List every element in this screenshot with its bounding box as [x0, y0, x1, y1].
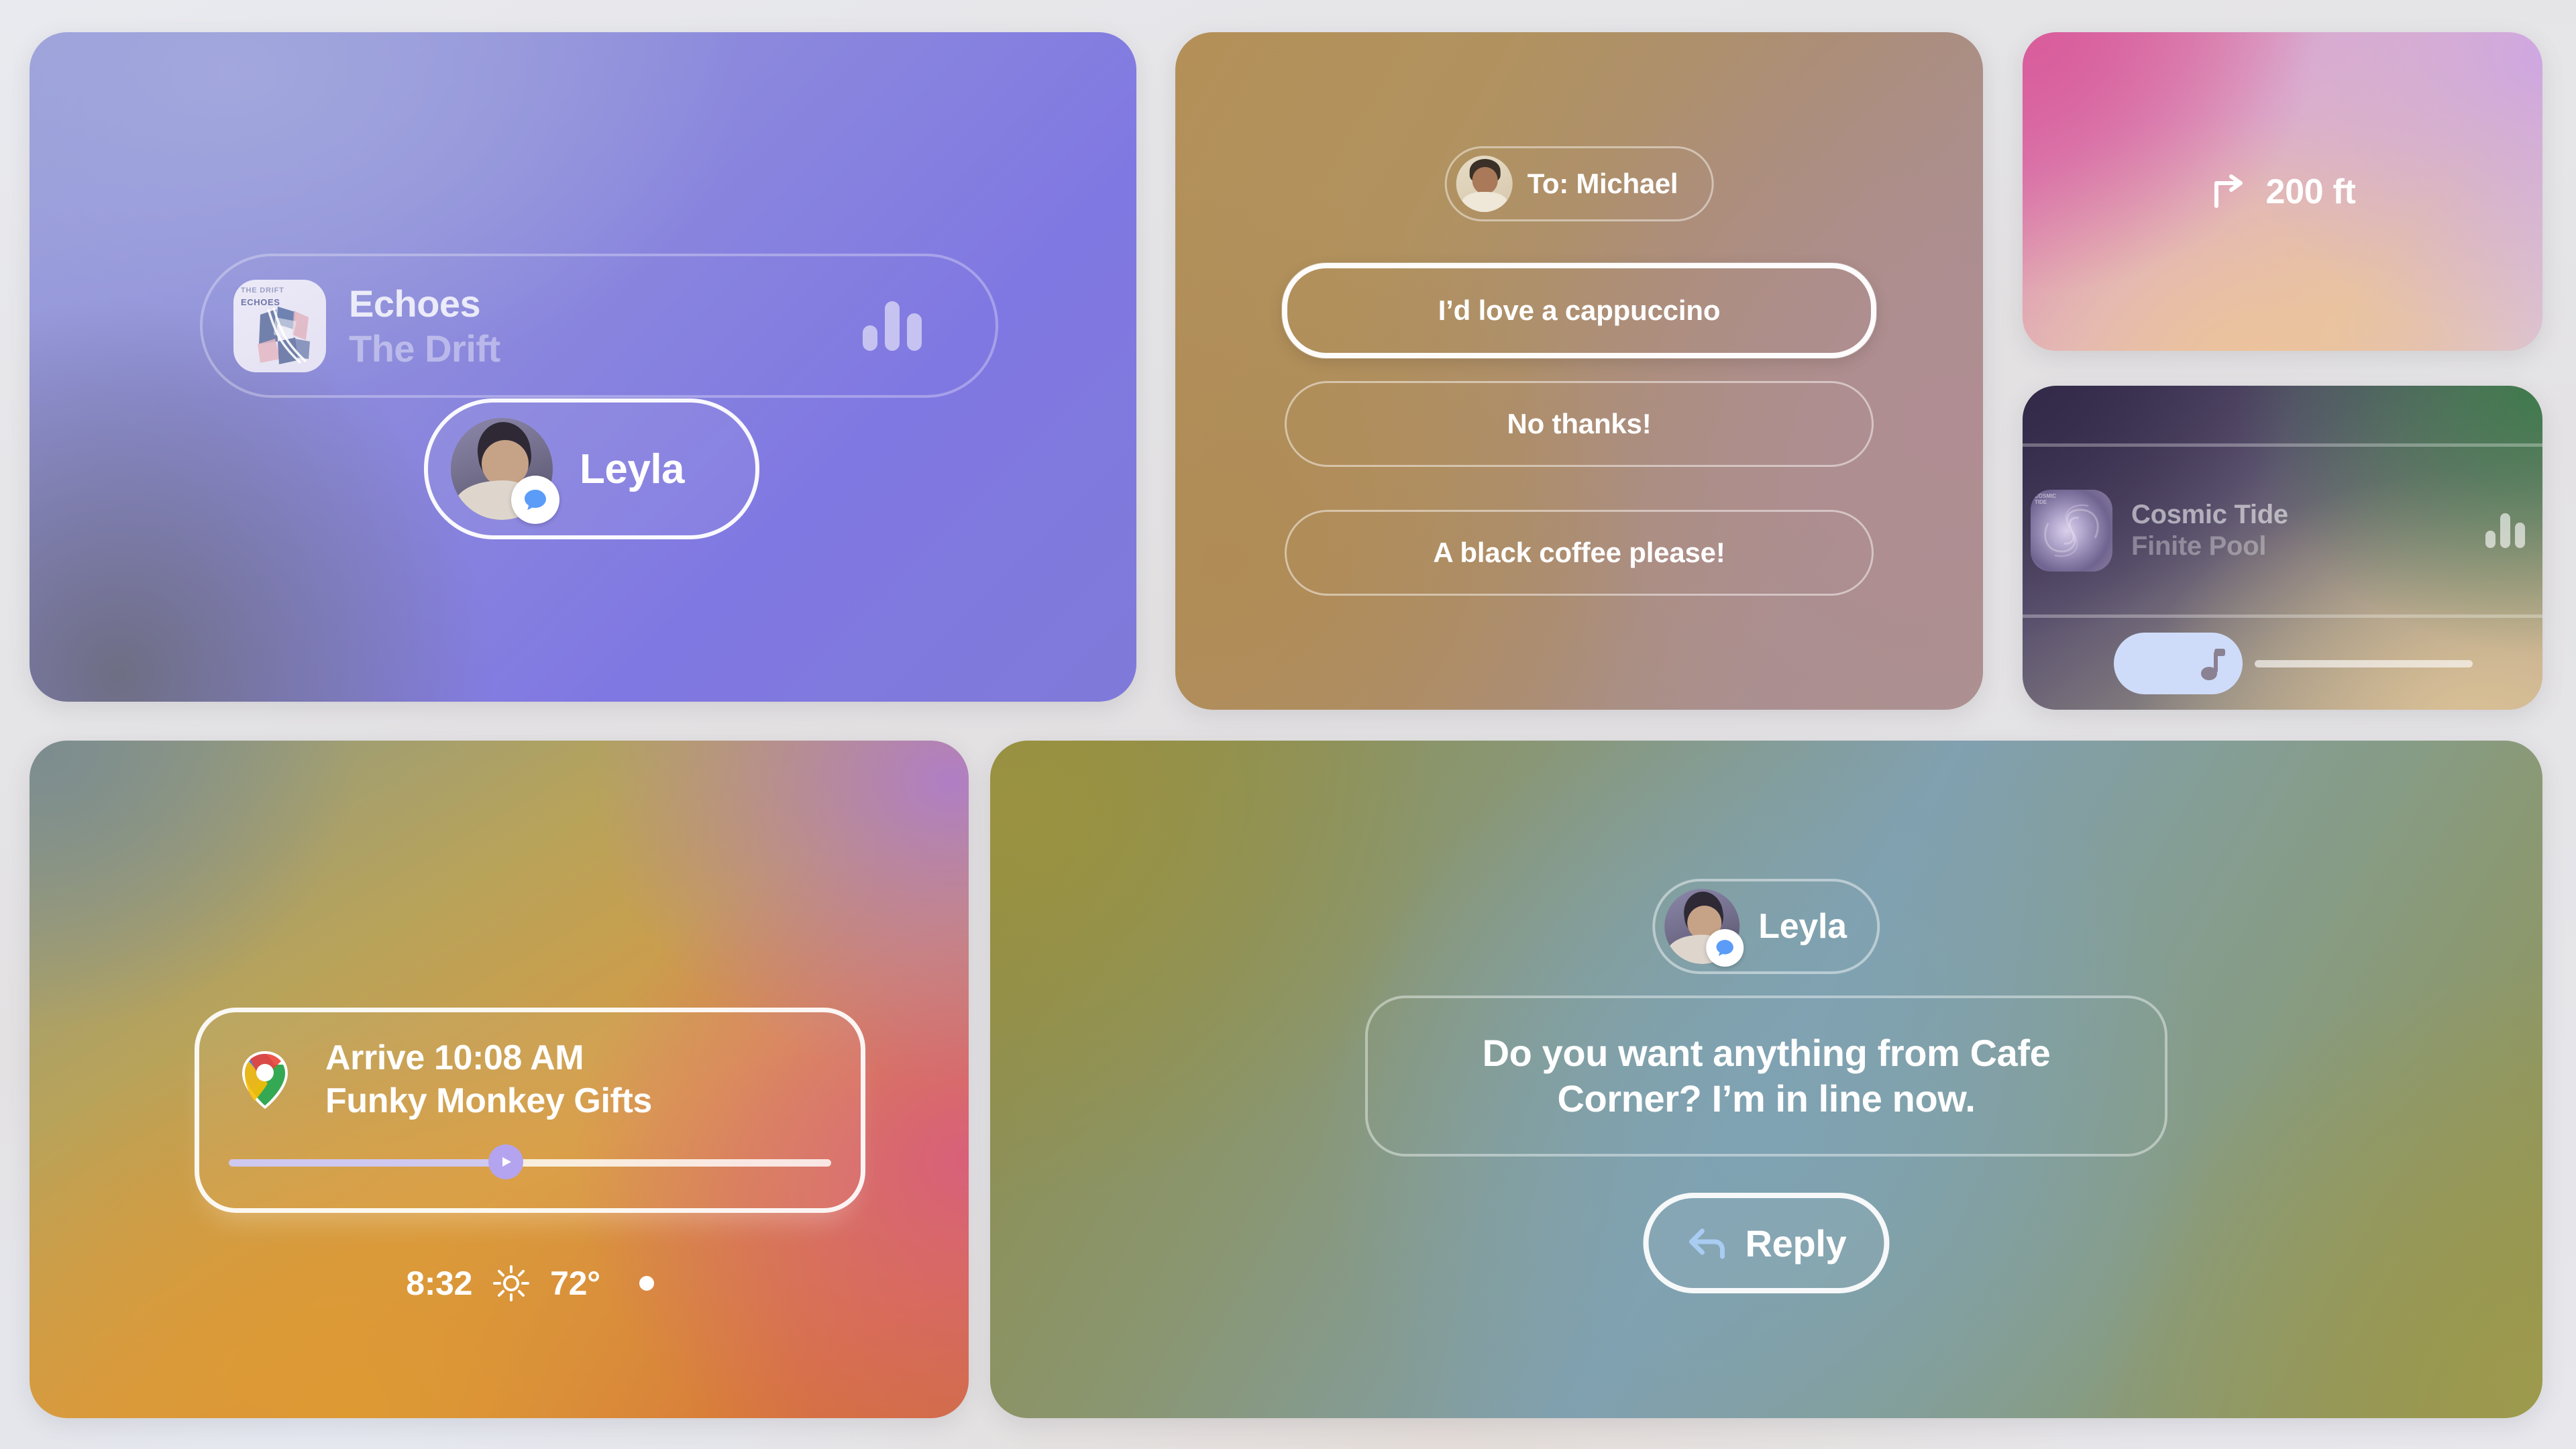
reply-option-label: A black coffee please! [1433, 537, 1725, 569]
equalizer-bars-icon [863, 301, 922, 351]
message-sender-name: Leyla [1758, 906, 1846, 947]
eta-panel[interactable]: Arrive 10:08 AM Funky Monkey Gifts [195, 1008, 865, 1213]
clock-time: 8:32 [406, 1264, 472, 1303]
recipient-label: To: Michael [1527, 168, 1678, 200]
album-art-shapes [233, 280, 326, 372]
dot-icon [639, 1276, 654, 1291]
widget-canvas: THE DRIFT ECHOES Echoes The Drift [0, 0, 2576, 1449]
caller-name: Leyla [580, 445, 684, 493]
reply-option-2[interactable]: A black coffee please! [1285, 510, 1874, 596]
reply-option-label: I’d love a cappuccino [1438, 294, 1721, 327]
message-bubble[interactable]: Do you want anything from Cafe Corner? I… [1365, 996, 2167, 1157]
recipient-pill[interactable]: To: Michael [1445, 146, 1714, 221]
card-navigation-eta[interactable]: Arrive 10:08 AM Funky Monkey Gifts 8:32 [30, 741, 969, 1418]
now-playing-pill[interactable]: THE DRIFT ECHOES Echoes The Drift [200, 254, 998, 398]
progress-remaining [506, 1159, 831, 1167]
eta-destination: Funky Monkey Gifts [325, 1081, 652, 1121]
card-suggested-replies[interactable]: To: Michael I’d love a cappuccino No tha… [1175, 32, 1983, 710]
card-navigation-distance[interactable]: 200 ft [2023, 32, 2542, 351]
volume-slider-track[interactable] [2255, 660, 2473, 667]
route-progress-slider[interactable] [229, 1152, 831, 1172]
distance-label: 200 ft [2265, 172, 2355, 212]
message-body: Do you want anything from Cafe Corner? I… [1414, 1030, 2118, 1122]
play-triangle-icon[interactable] [488, 1144, 523, 1179]
cosmic-track-artist: Finite Pool [2131, 531, 2288, 561]
message-sender-pill[interactable]: Leyla [1652, 879, 1880, 974]
avatar [1664, 889, 1739, 964]
temperature: 72° [550, 1264, 600, 1303]
card-incoming-message[interactable]: Leyla Do you want anything from Cafe Cor… [990, 741, 2542, 1418]
cosmic-now-playing-strip[interactable]: COSMICTIDE Cosmic Tide Finite [2023, 443, 2542, 618]
eta-header: Arrive 10:08 AM Funky Monkey Gifts [199, 1012, 861, 1121]
caller-pill-leyla[interactable]: Leyla [424, 398, 759, 539]
map-pin-icon [227, 1042, 303, 1117]
turn-right-icon [2209, 172, 2248, 211]
sun-icon [492, 1265, 530, 1302]
volume-slider[interactable] [2114, 633, 2514, 694]
card-media-cosmic-tide[interactable]: COSMICTIDE Cosmic Tide Finite [2023, 386, 2542, 710]
album-art-echoes: THE DRIFT ECHOES [233, 280, 326, 372]
reply-option-0[interactable]: I’d love a cappuccino [1282, 263, 1876, 358]
now-playing-text: Echoes The Drift [349, 282, 500, 370]
reply-arrow-icon [1686, 1224, 1728, 1262]
eta-text: Arrive 10:08 AM Funky Monkey Gifts [325, 1038, 652, 1121]
reply-option-label: No thanks! [1507, 408, 1651, 440]
avatar [451, 418, 553, 520]
card-music-and-caller[interactable]: THE DRIFT ECHOES Echoes The Drift [30, 32, 1136, 702]
eta-arrival-time: Arrive 10:08 AM [325, 1038, 652, 1078]
avatar-michael [1456, 156, 1513, 212]
reply-button[interactable]: Reply [1644, 1193, 1890, 1293]
album-art-swirl [2031, 490, 2112, 572]
messages-bubble-icon [1706, 929, 1743, 967]
cosmic-text: Cosmic Tide Finite Pool [2131, 500, 2288, 561]
status-row: 8:32 72° [195, 1264, 865, 1303]
navigation-instruction: 200 ft [2209, 172, 2355, 212]
album-art-cosmic-tide: COSMICTIDE [2031, 490, 2112, 572]
cosmic-track-title: Cosmic Tide [2131, 500, 2288, 530]
reply-button-label: Reply [1746, 1222, 1847, 1265]
equalizer-bars-icon [2485, 513, 2525, 548]
volume-slider-fill[interactable] [2114, 633, 2243, 694]
messages-bubble-icon [511, 476, 559, 524]
reply-option-1[interactable]: No thanks! [1285, 381, 1874, 467]
progress-fill [229, 1159, 506, 1167]
track-artist: The Drift [349, 327, 500, 370]
music-note-icon [2196, 645, 2228, 682]
track-title: Echoes [349, 282, 500, 325]
